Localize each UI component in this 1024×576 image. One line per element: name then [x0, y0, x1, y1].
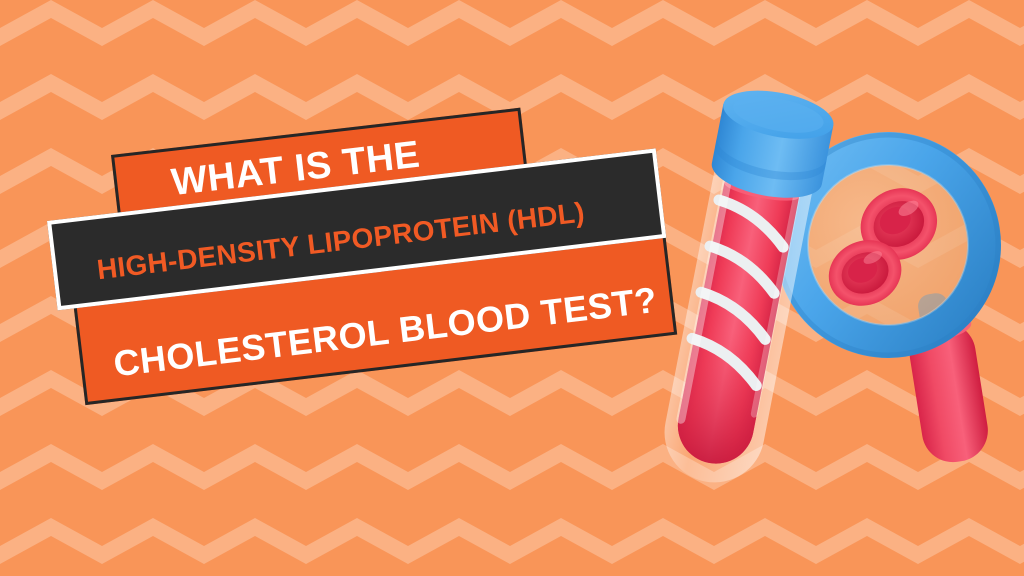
- poster-canvas: WHAT IS THE HIGH-DENSITY LIPOPROTEIN (HD…: [0, 0, 1024, 576]
